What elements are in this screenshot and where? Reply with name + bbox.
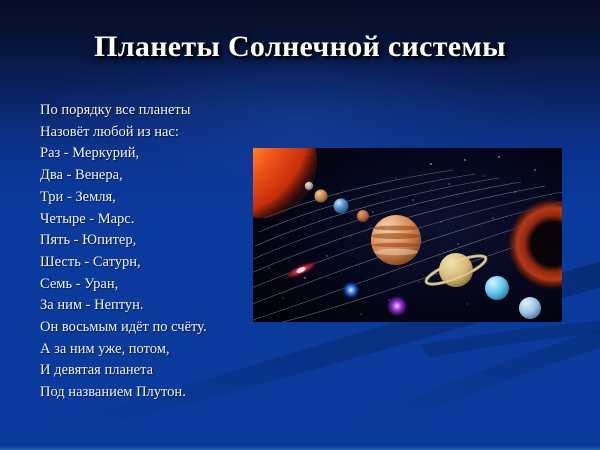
poem-line: Назовёт любой из нас: (40, 122, 252, 144)
poem-line: Под названием Плутон. (40, 382, 252, 404)
poem-line: Раз - Меркурий, (40, 143, 252, 165)
poem-line: Пять - Юпитер, (40, 230, 252, 252)
solar-system-image (253, 148, 562, 322)
purple-nebula-icon (386, 295, 408, 317)
mars-icon (357, 210, 369, 222)
poem-line: Он восьмым идёт по счёту. (40, 317, 252, 339)
earth-icon (334, 199, 349, 214)
bottom-accent-strip (0, 446, 600, 450)
slide: Планеты Солнечной системы По порядку все… (0, 0, 600, 450)
poem-line: За ним - Нептун. (40, 295, 252, 317)
poem-line: Два - Венера, (40, 165, 252, 187)
poem-line: По порядку все планеты (40, 100, 252, 122)
poem-text-block: По порядку все планеты Назовёт любой из … (40, 100, 252, 404)
solar-system-illustration (253, 148, 562, 322)
blue-star-icon (342, 281, 360, 299)
mercury-icon (305, 182, 313, 190)
poem-line: Четыре - Марс. (40, 209, 252, 231)
page-title: Планеты Солнечной системы (0, 30, 600, 64)
poem-line: Семь - Уран, (40, 274, 252, 296)
poem-line: И девятая планета (40, 360, 252, 382)
neptune-icon (519, 297, 541, 319)
poem-line: Три - Земля, (40, 187, 252, 209)
poem-line: Шесть - Сатурн, (40, 252, 252, 274)
venus-icon (315, 190, 328, 203)
uranus-icon (485, 276, 509, 300)
poem-line: А за ним уже, потом, (40, 339, 252, 361)
jupiter-icon (371, 215, 421, 265)
